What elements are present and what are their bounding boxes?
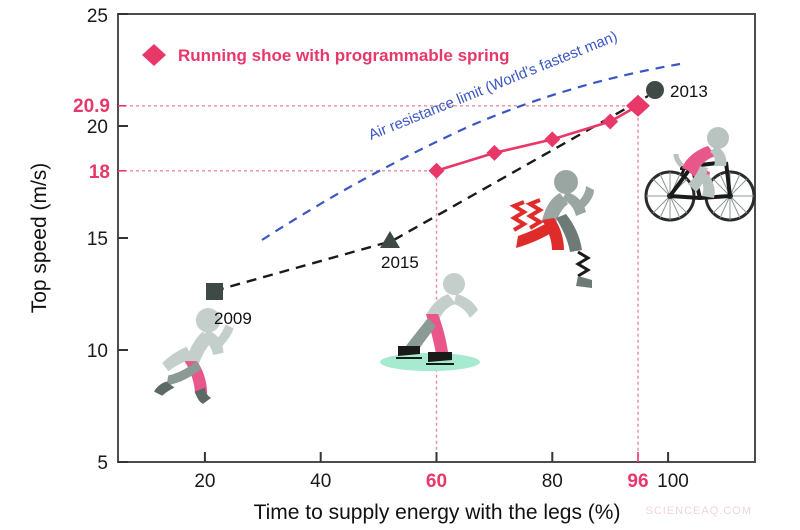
x-tick-label-100: 100 [657, 471, 689, 492]
y-axis-title: Top speed (m/s) [28, 163, 51, 314]
cyclist-figure [646, 127, 754, 220]
y-tick-label-5: 5 [97, 453, 108, 474]
y-tick-label-18: 18 [89, 162, 110, 183]
label-2015: 2015 [381, 253, 419, 272]
y-tick-label-10: 10 [87, 341, 108, 362]
spring-shoe-runner-figure [514, 170, 594, 288]
x-tick-label-20: 20 [194, 471, 215, 492]
ice-skater-figure [380, 273, 480, 371]
y-tick-label-25: 25 [87, 6, 108, 27]
x-tick-label-40: 40 [310, 471, 331, 492]
y-axis-ticks [118, 14, 128, 462]
marker-2009-square [206, 283, 223, 300]
x-tick-label-96: 96 [627, 471, 648, 492]
label-2009: 2009 [214, 309, 252, 328]
x-axis-title: Time to supply energy with the legs (%) [254, 501, 621, 524]
label-2013: 2013 [670, 82, 708, 101]
legend-label: Running shoe with programmable spring [178, 46, 510, 65]
guide-lines [118, 106, 638, 462]
x-tick-label-60: 60 [426, 471, 447, 492]
legend-marker [142, 44, 166, 66]
marker-2013-circle [646, 81, 664, 99]
x-axis-ticks [205, 452, 668, 462]
x-tick-label-80: 80 [542, 471, 563, 492]
y-tick-label-20-9: 20.9 [73, 96, 110, 117]
chart-container: 25 20 15 10 5 20.9 18 20 40 60 80 96 100… [0, 0, 800, 530]
y-tick-label-20: 20 [87, 117, 108, 138]
watermark: SCIENCEAQ.COM [645, 505, 752, 517]
chart-svg: 25 20 15 10 5 20.9 18 20 40 60 80 96 100… [0, 0, 800, 530]
y-tick-label-15: 15 [87, 229, 108, 250]
